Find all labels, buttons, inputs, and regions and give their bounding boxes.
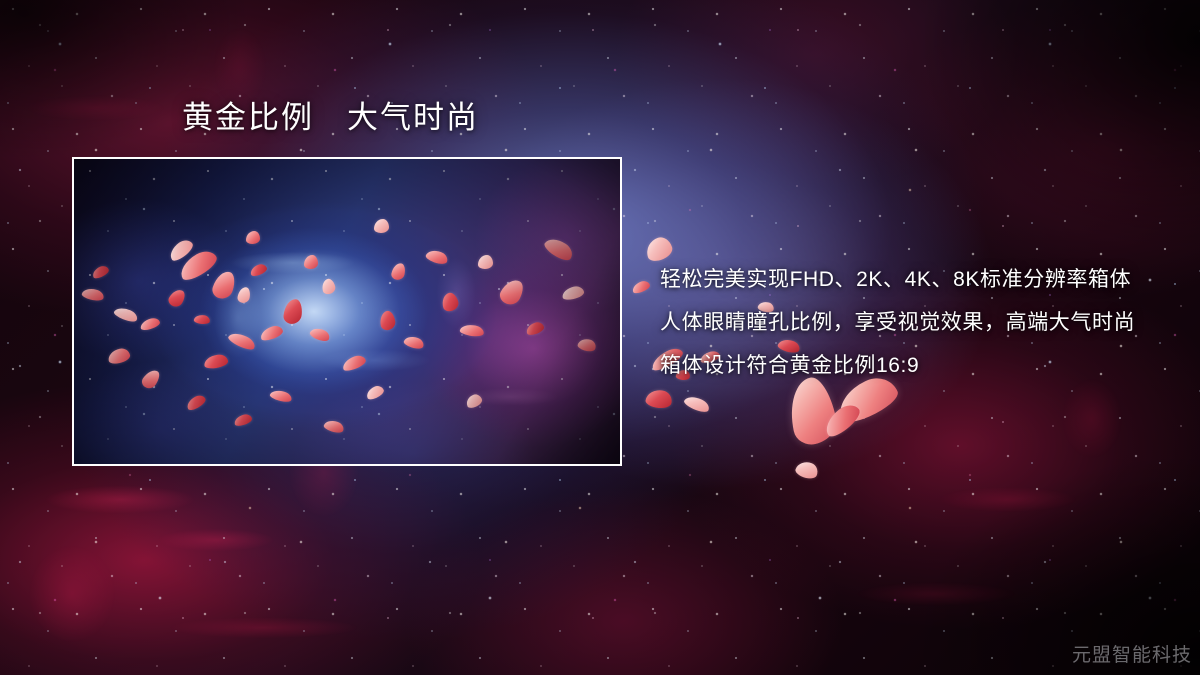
body-line: 轻松完美实现FHD、2K、4K、8K标准分辨率箱体: [660, 258, 1180, 301]
body-text-block: 轻松完美实现FHD、2K、4K、8K标准分辨率箱体 人体眼睛瞳孔比例，享受视觉效…: [660, 258, 1180, 387]
watermark: 元盟智能科技: [1072, 640, 1192, 667]
petal-shape: [683, 393, 712, 415]
page-title: 黄金比例 大气时尚: [182, 100, 479, 137]
petal-shape: [645, 388, 674, 410]
photo-image: [74, 159, 620, 464]
body-line: 人体眼睛瞳孔比例，享受视觉效果，高端大气时尚: [660, 301, 1180, 344]
slide-canvas: 黄金比例 大气时尚 轻松完美实现FHD、2K、4K、8K标准分辨率箱体 人体眼睛…: [0, 0, 1200, 675]
photo-vignette: [74, 159, 620, 464]
petal-shape: [631, 279, 651, 295]
body-line: 箱体设计符合黄金比例16:9: [660, 344, 1180, 387]
photo-frame[interactable]: [72, 157, 622, 466]
petal-shape: [794, 459, 820, 482]
